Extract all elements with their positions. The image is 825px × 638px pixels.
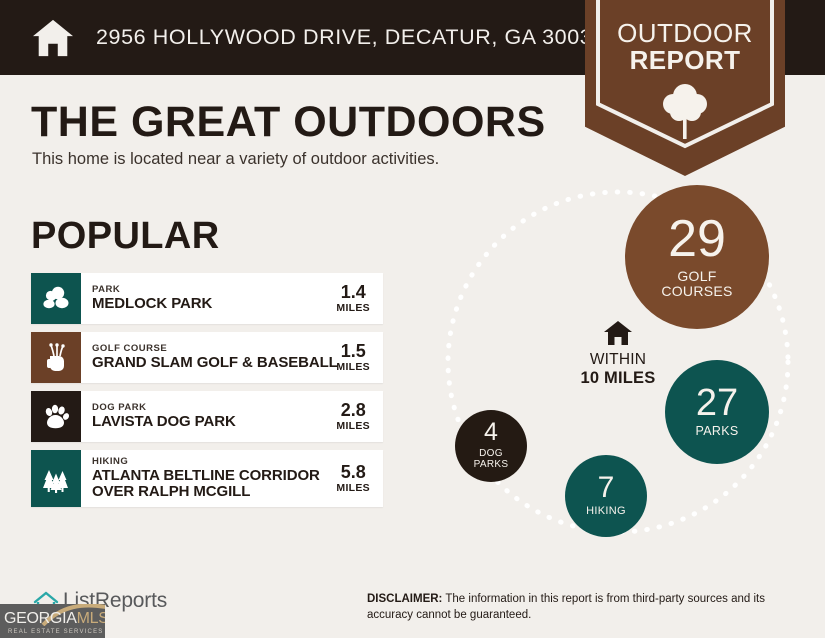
stat-label-line2: COURSES bbox=[661, 283, 732, 299]
list-item-text: PARK MEDLOCK PARK bbox=[81, 273, 336, 324]
golf-bag-icon bbox=[43, 343, 69, 373]
list-item[interactable]: GOLF COURSE GRAND SLAM GOLF & BASEBALL 1… bbox=[31, 332, 383, 383]
stat-bubble-dog-parks: 4 DOG PARKS bbox=[455, 410, 527, 482]
dogpark-icon-box bbox=[31, 391, 81, 442]
list-item-name-line2: OVER RALPH MCGILL bbox=[92, 484, 336, 501]
list-item[interactable]: HIKING ATLANTA BELTLINE CORRIDOR OVER RA… bbox=[31, 450, 383, 507]
georgiamls-name: GEORGIAMLS bbox=[4, 610, 105, 628]
distance-unit: MILES bbox=[336, 361, 370, 373]
header-address: 2956 HOLLYWOOD DRIVE, DECATUR, GA 30033 bbox=[96, 25, 605, 50]
disclaimer: DISCLAIMER: The information in this repo… bbox=[367, 591, 807, 624]
disclaimer-label: DISCLAIMER: bbox=[367, 593, 442, 605]
list-item-name: MEDLOCK PARK bbox=[92, 296, 336, 313]
stat-label: GOLF COURSES bbox=[661, 269, 732, 299]
park-tree-icon bbox=[41, 286, 71, 312]
list-item-distance: 1.5 MILES bbox=[336, 332, 383, 383]
distance-value: 1.5 bbox=[341, 342, 366, 361]
list-item-category: HIKING bbox=[92, 456, 336, 468]
list-item-text: HIKING ATLANTA BELTLINE CORRIDOR OVER RA… bbox=[81, 450, 336, 507]
list-item-name: ATLANTA BELTLINE CORRIDOR bbox=[92, 468, 336, 485]
list-item-name: LAVISTA DOG PARK bbox=[92, 414, 336, 431]
stat-label-line1: DOG bbox=[479, 448, 503, 459]
home-icon bbox=[603, 320, 633, 346]
list-item-distance: 1.4 MILES bbox=[336, 273, 383, 324]
distance-unit: MILES bbox=[336, 482, 370, 494]
diagram-center-label: WITHIN 10 MILES bbox=[548, 320, 688, 388]
distance-value: 2.8 bbox=[341, 401, 366, 420]
georgiamls-name-primary: GEORGIA bbox=[4, 610, 77, 627]
distance-unit: MILES bbox=[336, 302, 370, 314]
stat-label: PARKS bbox=[696, 425, 739, 439]
list-item-text: DOG PARK LAVISTA DOG PARK bbox=[81, 391, 336, 442]
popular-list: PARK MEDLOCK PARK 1.4 MILES GOLF COURS bbox=[31, 273, 383, 515]
home-icon bbox=[32, 18, 74, 58]
list-item[interactable]: DOG PARK LAVISTA DOG PARK 2.8 MILES bbox=[31, 391, 383, 442]
list-item-name: GRAND SLAM GOLF & BASEBALL bbox=[92, 355, 336, 372]
popular-heading: POPULAR bbox=[31, 215, 220, 258]
golf-icon-box bbox=[31, 332, 81, 383]
badge-line-1: OUTDOOR bbox=[585, 20, 785, 47]
park-icon-box bbox=[31, 273, 81, 324]
hiking-icon-box bbox=[31, 450, 81, 507]
distance-value: 5.8 bbox=[341, 463, 366, 482]
stat-label: HIKING bbox=[586, 506, 626, 518]
stat-bubble-golf-courses: 29 GOLF COURSES bbox=[625, 185, 769, 329]
stat-label-line1: GOLF bbox=[677, 268, 716, 284]
stat-label-line2: PARKS bbox=[474, 459, 509, 470]
distance-unit: MILES bbox=[336, 420, 370, 432]
pine-trees-icon bbox=[41, 464, 71, 494]
stat-label: DOG PARKS bbox=[474, 449, 509, 471]
stat-value: 4 bbox=[484, 421, 498, 445]
tree-icon bbox=[659, 82, 711, 140]
stat-value: 29 bbox=[668, 215, 726, 264]
list-item-text: GOLF COURSE GRAND SLAM GOLF & BASEBALL bbox=[81, 332, 336, 383]
list-item-distance: 5.8 MILES bbox=[336, 450, 383, 507]
list-item[interactable]: PARK MEDLOCK PARK 1.4 MILES bbox=[31, 273, 383, 324]
list-item-distance: 2.8 MILES bbox=[336, 391, 383, 442]
center-label-line1: WITHIN bbox=[548, 351, 688, 369]
stat-value: 27 bbox=[696, 385, 738, 421]
georgiamls-tagline: REAL ESTATE SERVICES bbox=[8, 629, 103, 635]
stat-value: 7 bbox=[598, 474, 615, 503]
page-title: THE GREAT OUTDOORS bbox=[31, 98, 546, 147]
stat-bubble-hiking: 7 HIKING bbox=[565, 455, 647, 537]
within-10-miles-diagram: 29 GOLF COURSES 27 PARKS 7 HIKING 4 DOG … bbox=[420, 170, 825, 560]
page-subtitle: This home is located near a variety of o… bbox=[32, 150, 439, 169]
badge-title: OUTDOOR REPORT bbox=[585, 20, 785, 73]
badge-line-2: REPORT bbox=[585, 47, 785, 74]
center-label-line2: 10 MILES bbox=[548, 369, 688, 388]
distance-value: 1.4 bbox=[341, 283, 366, 302]
outdoor-report-badge: OUTDOOR REPORT bbox=[585, 0, 785, 176]
paw-print-icon bbox=[42, 403, 70, 431]
georgiamls-name-secondary: MLS bbox=[77, 610, 105, 627]
georgiamls-logo: GEORGIAMLS REAL ESTATE SERVICES bbox=[0, 604, 105, 638]
